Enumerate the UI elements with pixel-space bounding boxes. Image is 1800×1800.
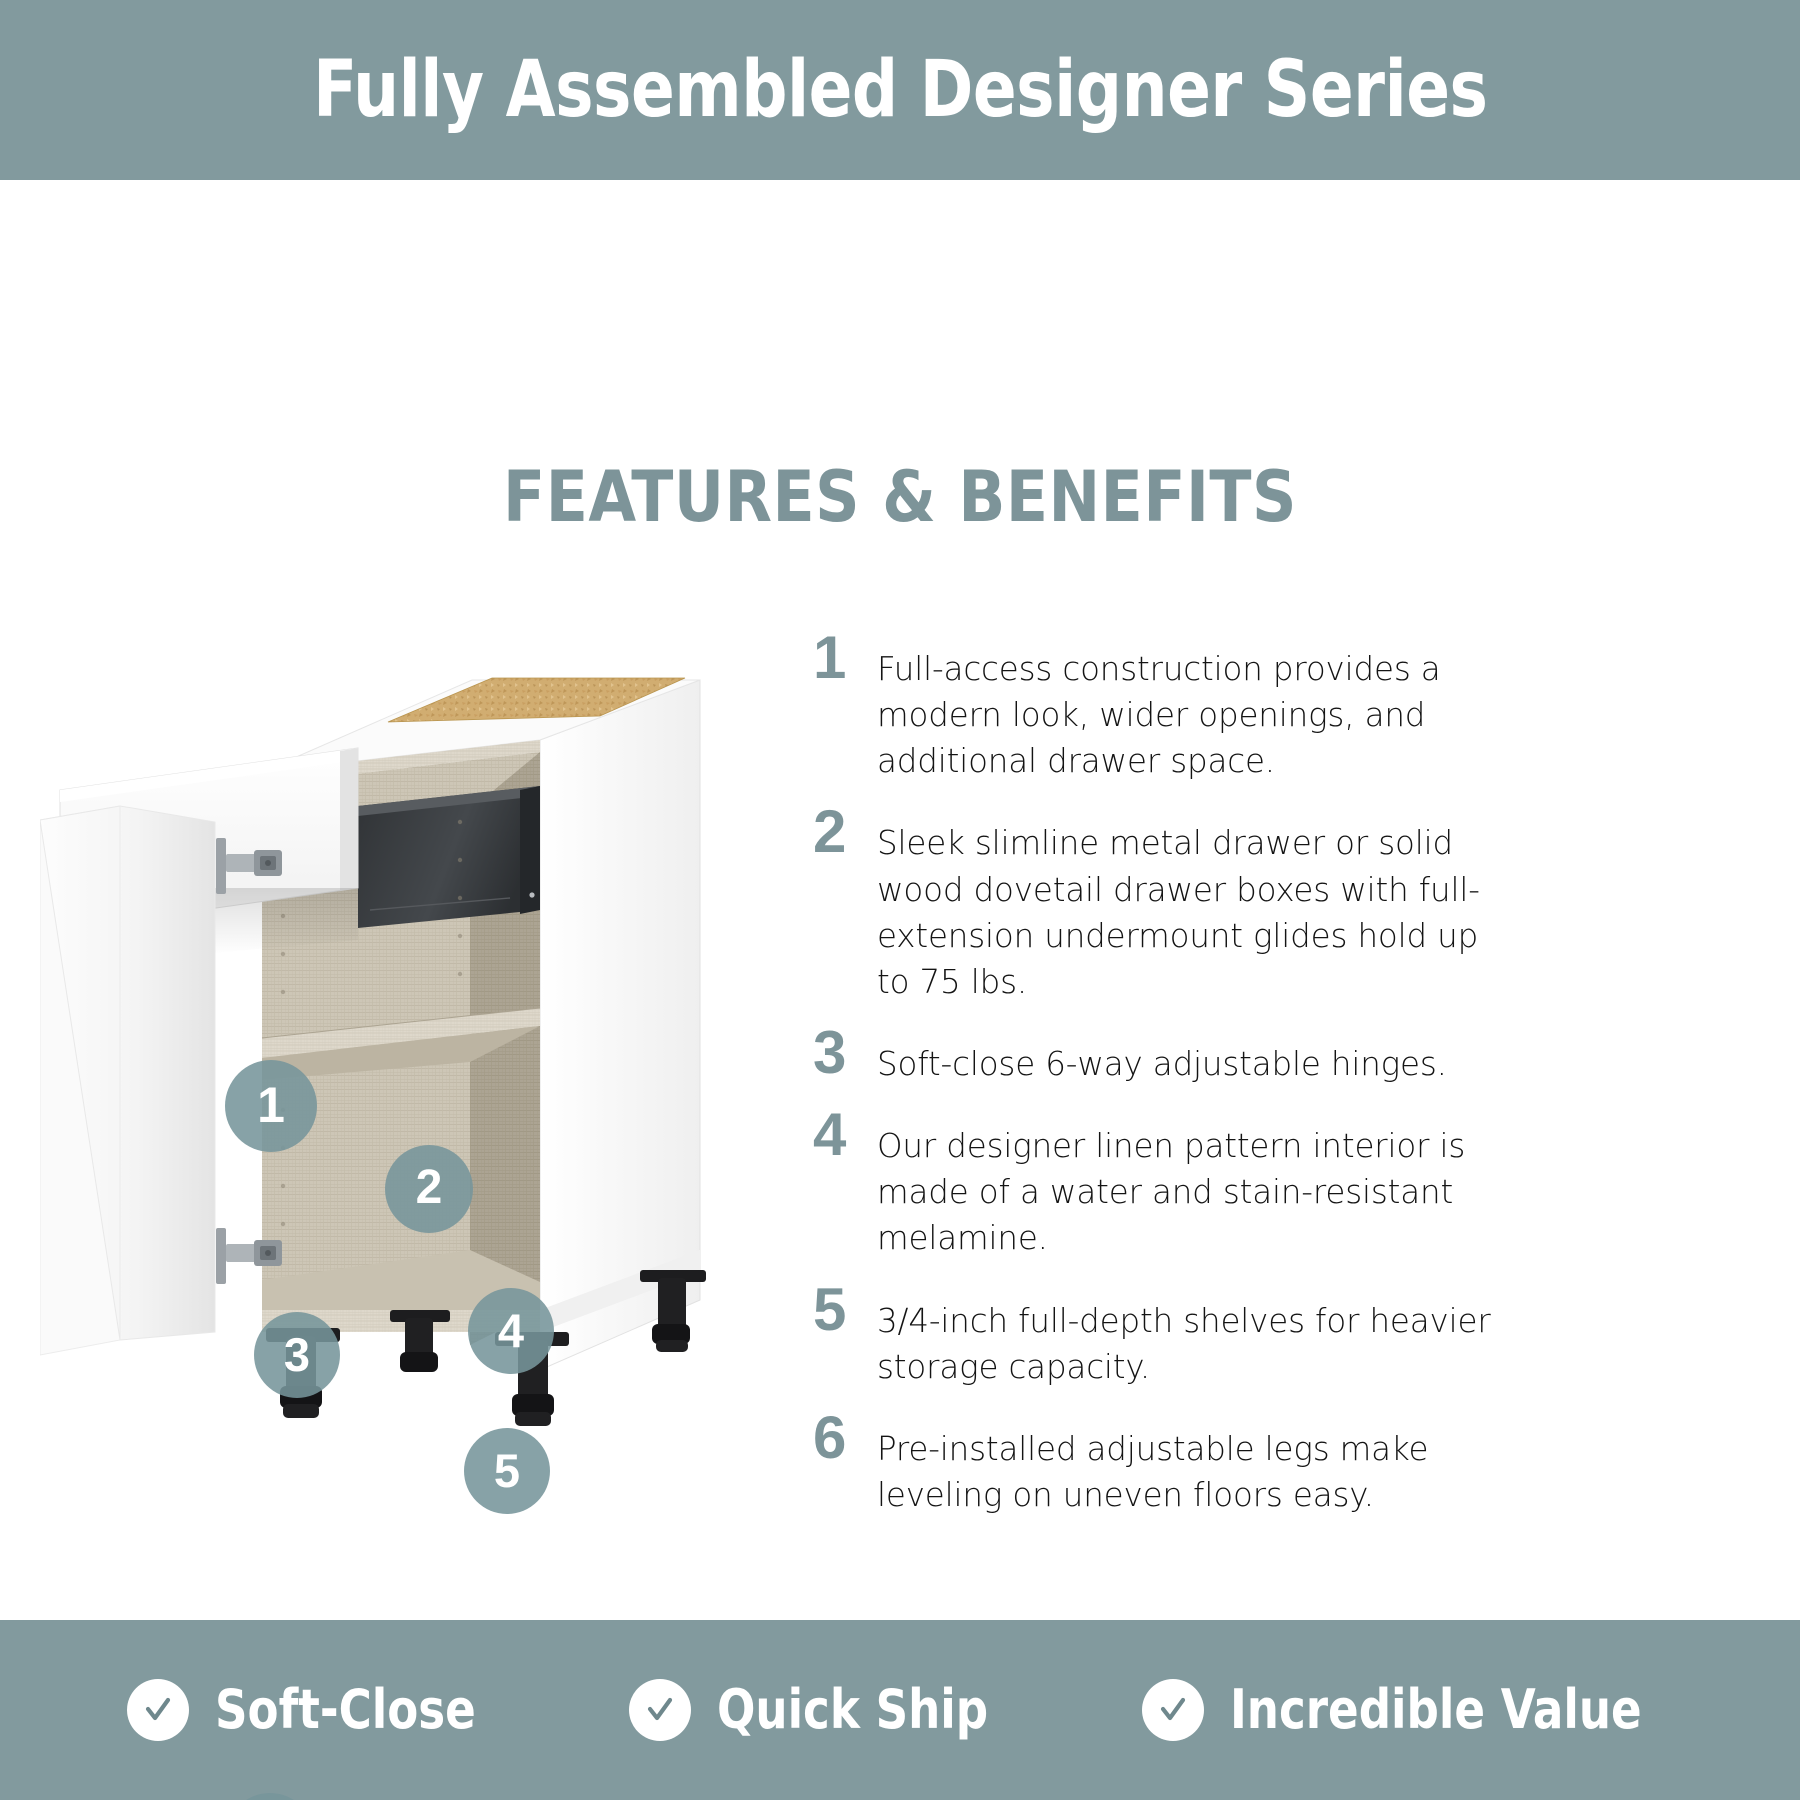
feature-text-5: 3/4-inch full-depth shelves for heavier … (877, 1284, 1505, 1390)
feature-item-6: 6 Pre-installed adjustable legs make lev… (805, 1412, 1505, 1518)
feature-number-2: 2 (805, 806, 877, 858)
feature-text-6: Pre-installed adjustable legs make level… (877, 1412, 1505, 1518)
footer-badge-soft-close: Soft-Close (127, 1679, 495, 1741)
feature-text-3: Soft-close 6-way adjustable hinges. (877, 1027, 1505, 1087)
callout-label-2: 2 (416, 1164, 443, 1212)
callout-label-5: 5 (494, 1447, 520, 1494)
callout-label-4: 4 (498, 1307, 524, 1354)
feature-item-1: 1 Full-access construction provides a mo… (805, 632, 1505, 784)
feature-text-2: Sleek slimline metal drawer or solid woo… (877, 806, 1505, 1005)
footer-label-soft-close: Soft-Close (215, 1683, 476, 1737)
main-content: FEATURES & BENEFITS (0, 180, 1800, 1620)
footer-label-incredible-value: Incredible Value (1230, 1683, 1642, 1737)
feature-item-3: 3 Soft-close 6-way adjustable hinges. (805, 1027, 1505, 1087)
infographic-page: Fully Assembled Designer Series FEATURES… (0, 0, 1800, 1800)
footer-badge-incredible-value: Incredible Value (1142, 1679, 1673, 1741)
feature-text-4: Our designer linen pattern interior is m… (877, 1109, 1505, 1261)
callout-badge-1[interactable]: 1 (225, 1060, 317, 1152)
callout-badge-2[interactable]: 2 (385, 1145, 473, 1233)
feature-text-1: Full-access construction provides a mode… (877, 632, 1505, 784)
section-heading: FEATURES & BENEFITS (18, 462, 1782, 532)
footer-label-quick-ship: Quick Ship (717, 1683, 988, 1737)
features-list: 1 Full-access construction provides a mo… (805, 632, 1505, 1540)
metal-drawer (358, 786, 540, 928)
callout-badge-5[interactable]: 5 (464, 1428, 550, 1514)
feature-number-4: 4 (805, 1109, 877, 1161)
check-icon (629, 1679, 691, 1741)
feature-number-1: 1 (805, 632, 877, 684)
feature-item-5: 5 3/4-inch full-depth shelves for heavie… (805, 1284, 1505, 1390)
check-icon (127, 1679, 189, 1741)
cabinet-drawing (40, 610, 800, 1470)
callout-label-3: 3 (284, 1331, 310, 1378)
feature-number-5: 5 (805, 1284, 877, 1336)
feature-number-6: 6 (805, 1412, 877, 1464)
page-title: Fully Assembled Designer Series (313, 51, 1487, 129)
feature-number-3: 3 (805, 1027, 877, 1079)
callout-badge-4[interactable]: 4 (468, 1288, 554, 1374)
footer-bar: Soft-Close Quick Ship Incredible Value (0, 1620, 1800, 1800)
check-icon (1142, 1679, 1204, 1741)
feature-item-4: 4 Our designer linen pattern interior is… (805, 1109, 1505, 1261)
callout-badge-3[interactable]: 3 (254, 1312, 340, 1398)
header-bar: Fully Assembled Designer Series (0, 0, 1800, 180)
cabinet-door (40, 806, 215, 1355)
feature-item-2: 2 Sleek slimline metal drawer or solid w… (805, 806, 1505, 1005)
footer-badge-quick-ship: Quick Ship (629, 1679, 1009, 1741)
product-illustration: 1 2 3 4 5 6 (40, 610, 800, 1470)
callout-label-1: 1 (257, 1080, 285, 1130)
